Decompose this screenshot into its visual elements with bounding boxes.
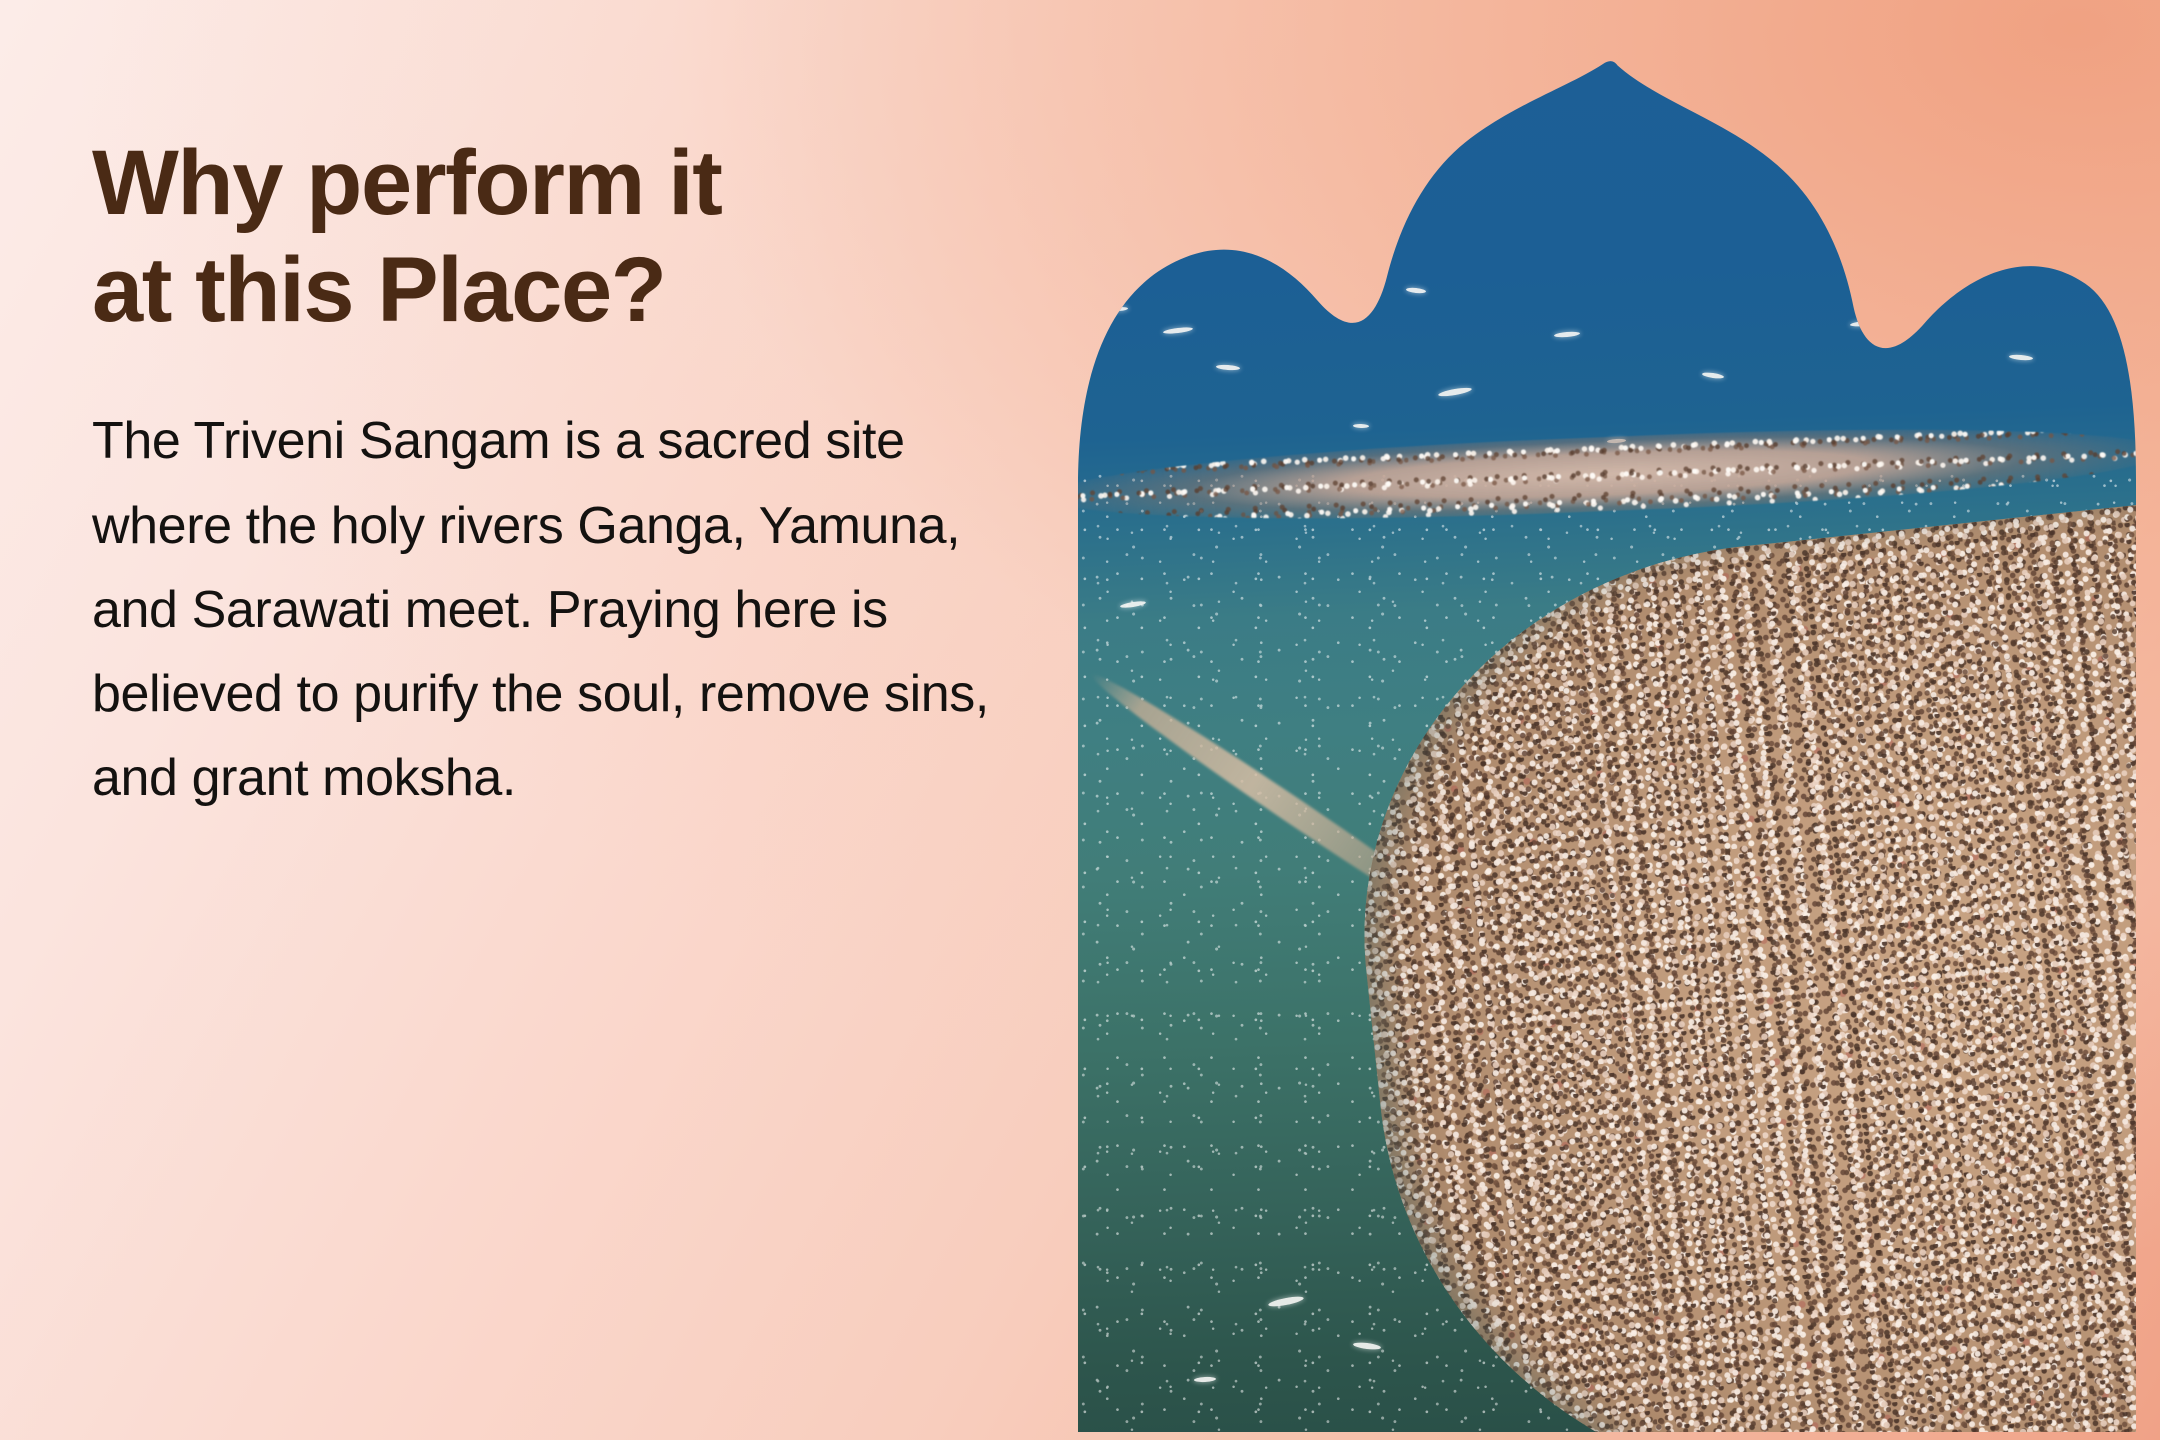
boat-icon xyxy=(1353,423,1369,428)
crowded-sandbank xyxy=(1327,495,2136,1432)
arch-photo-frame: Aerial view of the Triveni Sangam conflu… xyxy=(1078,60,2136,1432)
text-column: Why perform it at this Place? The Triven… xyxy=(92,130,992,821)
river-aerial-photo: Aerial view of the Triveni Sangam conflu… xyxy=(1078,60,2136,1432)
page-title: Why perform it at this Place? xyxy=(92,130,992,343)
slide-canvas: Why perform it at this Place? The Triven… xyxy=(0,0,2160,1440)
photo-caption: Aerial view of the Triveni Sangam conflu… xyxy=(1078,60,1079,61)
body-paragraph: The Triveni Sangam is a sacred site wher… xyxy=(92,399,992,820)
